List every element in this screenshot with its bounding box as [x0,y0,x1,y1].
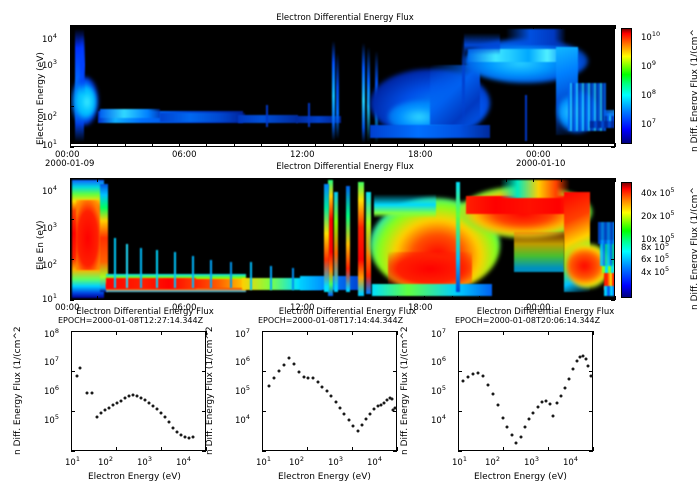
panel-middle-colorbar-label: n Diff. Energy Flux (1/(cm^ [690,187,697,310]
axis-tick [116,331,117,335]
spectrum-left-ytick-0: 108 [44,327,59,340]
axis-tick [343,25,344,29]
axis-tick [479,25,480,29]
axis-tick [397,331,398,335]
axis-tick [206,331,207,335]
axis-tick [206,25,207,29]
axis-tick [70,219,74,220]
spectrum-right-ytick-1: 106 [431,355,446,368]
spectrum-right-xtick-0: 101 [452,455,467,468]
axis-tick [70,259,74,260]
axis-tick [452,296,453,300]
axis-tick [261,143,262,147]
spectrum-left-xlabel: Electron Energy (eV) [88,472,181,482]
axis-tick [533,25,534,29]
spectrum-middle-epoch: EPOCH=2000-01-08T17:14:44.344Z [258,316,403,325]
axis-tick [343,143,344,147]
axis-tick [179,25,180,29]
axis-tick [206,143,207,147]
axis-tick [589,451,593,452]
axis-tick [561,296,562,300]
axis-tick [548,447,549,451]
axis-tick [588,178,589,182]
axis-tick [125,25,126,29]
spectrum-right-plot [458,331,593,451]
axis-tick [533,296,534,300]
spectrum-middle-ytick-3: 104 [235,413,250,426]
axis-tick [589,411,593,412]
spectrum-left-xtick-0: 101 [65,455,80,468]
spectrum-right-xtick-1: 102 [485,455,500,468]
spectrum-middle-xlabel: Electron Energy (eV) [278,472,371,482]
panel-top-xtick-2: 12:00 [290,150,315,160]
panel-middle-colorbar [621,182,632,298]
spectrum-middle-ytick-0: 107 [235,327,250,340]
axis-tick [397,296,398,300]
axis-tick [234,296,235,300]
axis-tick [458,451,462,452]
axis-tick [161,331,162,335]
axis-tick [589,371,593,372]
axis-tick [397,178,398,182]
axis-tick [71,411,75,412]
axis-tick [202,451,206,452]
axis-tick [352,447,353,451]
axis-tick [393,451,397,452]
axis-tick [70,66,74,67]
axis-tick [506,25,507,29]
axis-tick [288,296,289,300]
axis-tick [161,447,162,451]
axis-tick [393,331,397,332]
axis-tick [393,411,397,412]
axis-tick [593,331,594,335]
axis-tick [611,66,615,67]
spectrum-middle-xtick-1: 102 [289,455,304,468]
panel-middle-ytick-1: 103 [42,221,57,234]
axis-tick [152,25,153,29]
axis-tick [506,178,507,182]
axis-tick [397,447,398,451]
spectrum-middle-ylabel: n Diff. Energy Flux (1/(cm^2 [205,326,215,455]
axis-tick [343,296,344,300]
axis-tick [315,25,316,29]
axis-tick [370,178,371,182]
panel-top-cbar-tick-2: 108 [641,88,656,101]
spectrum-middle-xtick-0: 101 [256,455,271,468]
axis-tick [179,143,180,147]
spectrum-middle-ytick-2: 105 [235,384,250,397]
panel-top-ytick-2: 102 [42,110,57,123]
axis-tick [393,371,397,372]
panel-top-cbar-tick-3: 107 [641,117,656,130]
axis-tick [307,447,308,451]
spectrum-left-xtick-3: 104 [176,455,191,468]
axis-tick [343,178,344,182]
axis-tick [179,178,180,182]
spectrum-right-xtick-3: 104 [563,455,578,468]
axis-tick [593,447,594,451]
axis-tick [370,143,371,147]
axis-tick [611,147,615,148]
panel-middle-cbar-tick-4: 6x 105 [641,252,669,265]
panel-top-colorbar [621,28,632,144]
axis-tick [561,143,562,147]
axis-tick [97,296,98,300]
panel-middle-cbar-tick-0: 40x 105 [641,186,675,199]
axis-tick [70,25,74,26]
axis-tick [70,300,74,301]
spectrum-left-plot [71,331,206,451]
axis-tick [458,331,462,332]
spectrum-right-ytick-0: 107 [431,327,446,340]
axis-tick [424,296,425,300]
axis-tick [70,106,74,107]
spectrum-left-xtick-1: 102 [98,455,113,468]
axis-tick [503,331,504,335]
axis-tick [288,178,289,182]
spectrum-middle-xtick-3: 104 [367,455,382,468]
axis-tick [479,178,480,182]
axis-tick [479,143,480,147]
axis-tick [533,143,534,147]
spectrum-left-ytick-3: 105 [44,413,59,426]
axis-tick [452,25,453,29]
spectrum-right-ylabel: n Diff. Energy Flux (1/(cm^2 [400,326,410,455]
axis-tick [71,451,75,452]
spectrum-middle-ytick-1: 106 [235,355,250,368]
axis-tick [458,411,462,412]
axis-tick [262,451,266,452]
axis-tick [424,143,425,147]
panel-top-xdate-right: 2000-01-10 [516,159,565,169]
axis-tick [533,178,534,182]
axis-tick [261,296,262,300]
spectrum-left-epoch: EPOCH=2000-01-08T12:27:14.344Z [58,316,203,325]
axis-tick [234,143,235,147]
axis-tick [588,25,589,29]
spectrum-middle-xtick-2: 103 [328,455,343,468]
axis-tick [206,178,207,182]
axis-tick [611,219,615,220]
spectrum-left-xtick-2: 103 [137,455,152,468]
panel-middle-ytick-2: 102 [42,258,57,271]
panel-top-ytick-1: 103 [42,58,57,71]
axis-tick [397,143,398,147]
axis-tick [589,331,593,332]
axis-tick [370,25,371,29]
axis-tick [615,143,616,147]
axis-tick [315,178,316,182]
spectrum-right-ytick-3: 104 [431,413,446,426]
panel-middle-cbar-tick-3: 8x 105 [641,240,669,253]
panel-top-cbar-tick-1: 109 [641,59,656,72]
axis-tick [611,25,615,26]
panel-top-cbar-tick-0: 1010 [641,30,660,43]
axis-tick [370,296,371,300]
axis-tick [588,143,589,147]
axis-tick [611,106,615,107]
spectrum-left-ylabel: n Diff. Energy Flux (1/(cm^2 [13,326,23,455]
panel-middle-cbar-tick-1: 20x 105 [641,209,675,222]
axis-tick [202,411,206,412]
panel-middle-ytick-0: 104 [42,184,57,197]
axis-tick [234,178,235,182]
panel-middle-frame [70,178,615,300]
panel-top-ytick-3: 101 [42,138,57,151]
axis-tick [561,178,562,182]
axis-tick [125,143,126,147]
axis-tick [262,411,266,412]
axis-tick [262,331,266,332]
axis-tick [202,331,206,332]
axis-tick [234,25,235,29]
axis-tick [452,178,453,182]
axis-tick [152,178,153,182]
spectrum-right-xlabel: Electron Energy (eV) [474,472,567,482]
panel-top-title: Electron Differential Energy Flux [175,13,515,23]
spectrum-left-ytick-2: 106 [44,384,59,397]
axis-tick [71,331,75,332]
panel-top-frame [70,25,615,147]
axis-tick [424,178,425,182]
axis-tick [261,178,262,182]
axis-tick [458,371,462,372]
axis-tick [611,300,615,301]
axis-tick [315,143,316,147]
axis-tick [506,143,507,147]
axis-tick [97,143,98,147]
spectrum-right-epoch: EPOCH=2000-01-08T20:06:14.344Z [455,316,600,325]
axis-tick [97,178,98,182]
axis-tick [611,259,615,260]
axis-tick [452,143,453,147]
axis-tick [262,371,266,372]
panel-top-ytick-0: 104 [42,32,57,45]
axis-tick [116,447,117,451]
axis-tick [152,143,153,147]
axis-tick [202,371,206,372]
axis-tick [397,25,398,29]
axis-tick [206,447,207,451]
axis-tick [615,296,616,300]
axis-tick [548,331,549,335]
axis-tick [615,25,616,29]
panel-top-xtick-3: 18:00 [408,150,433,160]
axis-tick [125,178,126,182]
axis-tick [97,25,98,29]
panel-top-xdate-left: 2000-01-09 [45,159,94,169]
panel-middle-title: Electron Differential Energy Flux [175,162,515,172]
axis-tick [70,147,74,148]
axis-tick [152,296,153,300]
axis-tick [307,331,308,335]
axis-tick [288,143,289,147]
axis-tick [503,447,504,451]
panel-middle-cbar-tick-5: 4x 105 [641,265,669,278]
spectrum-middle-plot [262,331,397,451]
axis-tick [179,296,180,300]
axis-tick [125,296,126,300]
axis-tick [206,296,207,300]
axis-tick [352,331,353,335]
panel-top-xtick-1: 06:00 [172,150,197,160]
spectrum-right-xtick-2: 103 [524,455,539,468]
axis-tick [479,296,480,300]
axis-tick [71,371,75,372]
spectrum-left-ytick-1: 107 [44,355,59,368]
axis-tick [70,178,74,179]
axis-tick [588,296,589,300]
axis-tick [315,296,316,300]
axis-tick [561,25,562,29]
axis-tick [506,296,507,300]
axis-tick [615,178,616,182]
spectrum-right-ytick-2: 105 [431,384,446,397]
axis-tick [261,25,262,29]
axis-tick [611,178,615,179]
axis-tick [288,25,289,29]
panel-top-colorbar-label: n Diff. Energy Flux (1/(cm^ [690,29,697,152]
axis-tick [424,25,425,29]
